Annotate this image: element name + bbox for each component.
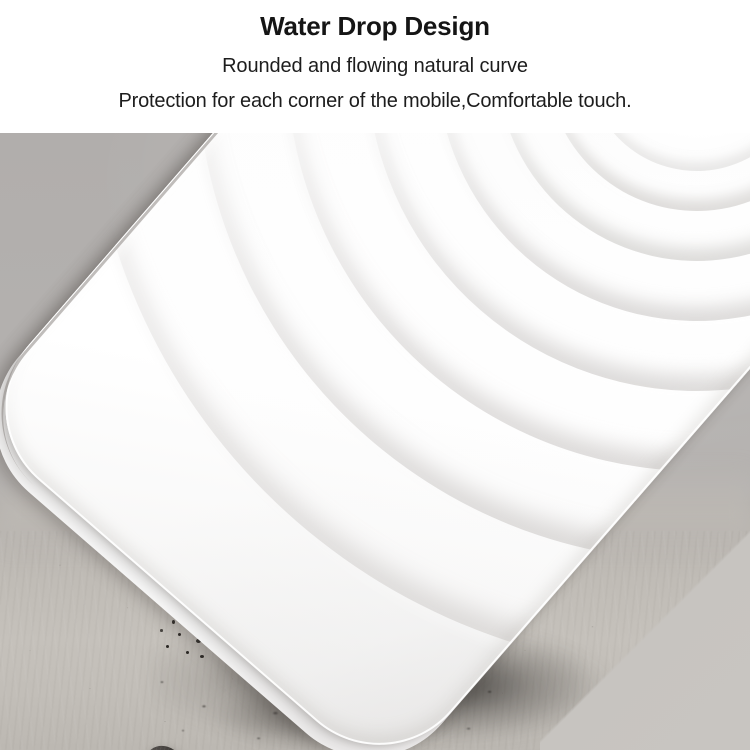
subtitle-secondary: Protection for each corner of the mobile…	[119, 90, 632, 113]
product-scene	[0, 133, 750, 750]
subtitle-primary: Rounded and flowing natural curve	[222, 55, 528, 78]
phone-case-group	[0, 133, 750, 750]
product-marketing-image: Water Drop Design Rounded and flowing na…	[0, 0, 750, 750]
case-side-wall-edge	[0, 133, 750, 750]
page-title: Water Drop Design	[260, 12, 490, 42]
header-text-block: Water Drop Design Rounded and flowing na…	[0, 0, 750, 133]
